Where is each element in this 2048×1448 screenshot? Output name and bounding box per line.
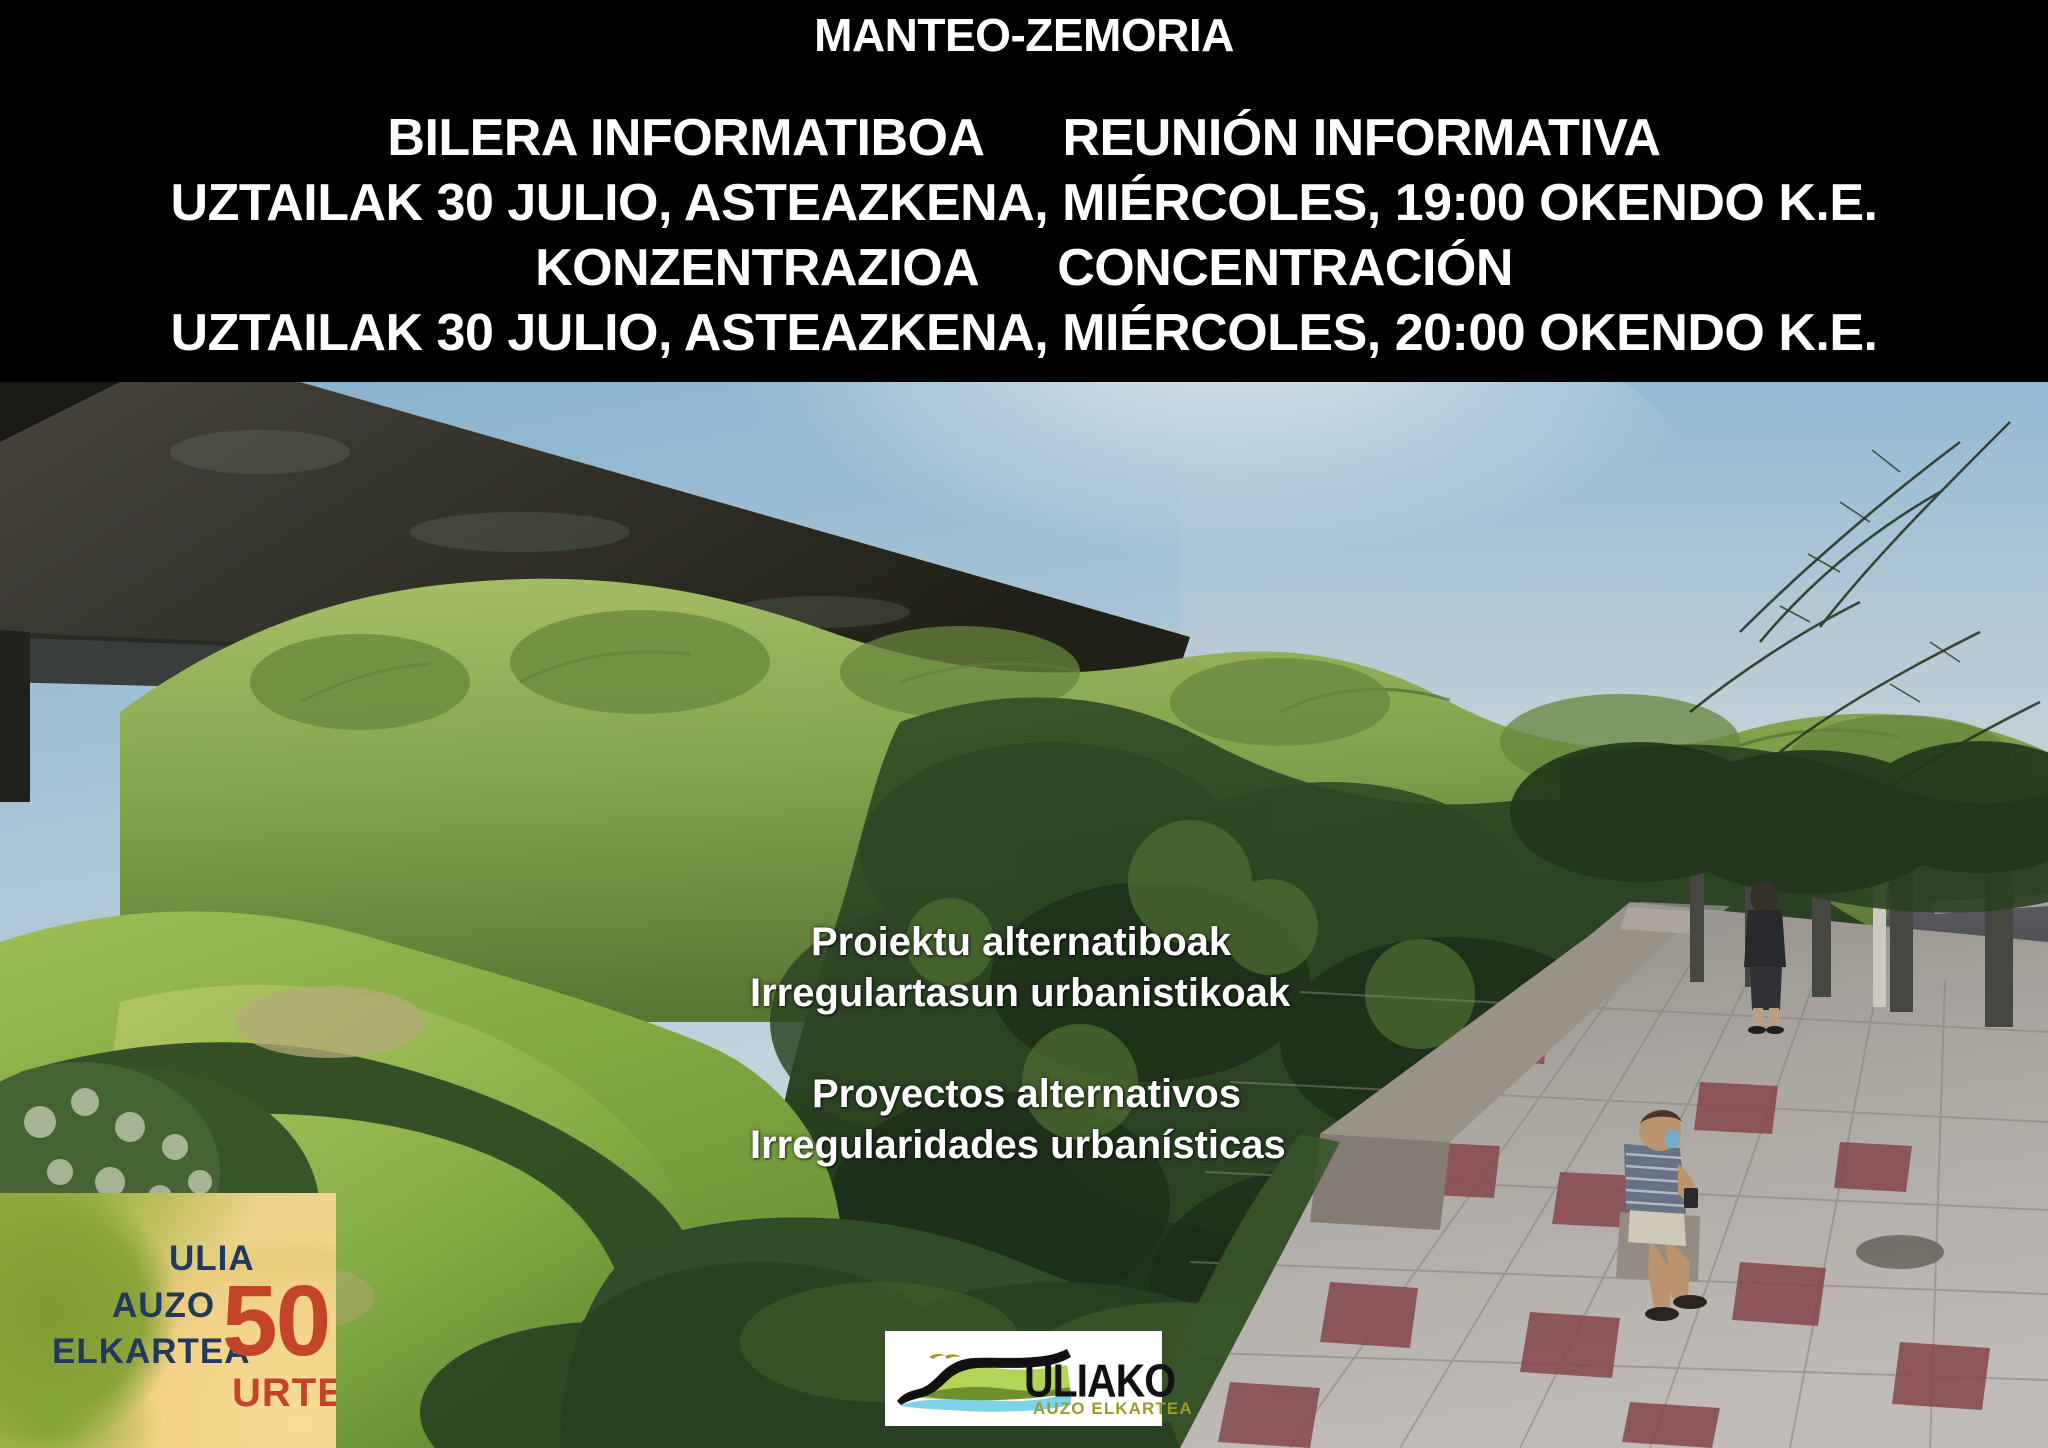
- uliako-logo-subtitle: AUZO ELKARTEA: [1033, 1399, 1193, 1419]
- rally-heading-basque: KONZENTRAZIOA: [535, 239, 979, 297]
- overlay-spanish-line-2: Irregularidades urbanísticas: [750, 1123, 1286, 1168]
- rally-datetime-line: UZTAILAK 30 JULIO, ASTEAZKENA, MIÉRCOLES…: [0, 303, 2048, 363]
- ulia-50-urte-logo: ULIA AUZO ELKARTEA 50 URTE: [0, 1193, 336, 1448]
- meeting-datetime-line: UZTAILAK 30 JULIO, ASTEAZKENA, MIÉRCOLES…: [0, 173, 2048, 233]
- meeting-heading-spanish: REUNIÓN INFORMATIVA: [1063, 109, 1661, 167]
- uliako-auzo-elkartea-logo: ULIAKO AUZO ELKARTEA: [885, 1331, 1162, 1426]
- poster: Proiektu alternatiboak Irregulartasun ur…: [0, 0, 2048, 1448]
- overlay-spanish-line-1: Proyectos alternativos: [812, 1072, 1241, 1117]
- page-title: MANTEO-ZEMORIA: [0, 8, 2048, 62]
- meeting-heading-basque: BILERA INFORMATIBOA: [387, 109, 984, 167]
- ulia-logo-line-3: ELKARTEA: [52, 1334, 251, 1369]
- overlay-basque-line-1: Proiektu alternatiboak: [811, 920, 1231, 965]
- meeting-heading-row: BILERA INFORMATIBOAREUNIÓN INFORMATIVA: [0, 108, 2048, 168]
- header-banner: MANTEO-ZEMORIA BILERA INFORMATIBOAREUNIÓ…: [0, 0, 2048, 382]
- rally-heading-spanish: CONCENTRACIÓN: [1057, 239, 1513, 297]
- ulia-logo-line-2: AUZO: [112, 1288, 215, 1323]
- ulia-logo-years-word: URTE: [232, 1373, 336, 1413]
- rally-heading-row: KONZENTRAZIOACONCENTRACIÓN: [0, 238, 2048, 298]
- overlay-basque-line-2: Irregulartasun urbanistikoak: [750, 971, 1290, 1016]
- ulia-logo-anniversary-number: 50: [222, 1271, 329, 1371]
